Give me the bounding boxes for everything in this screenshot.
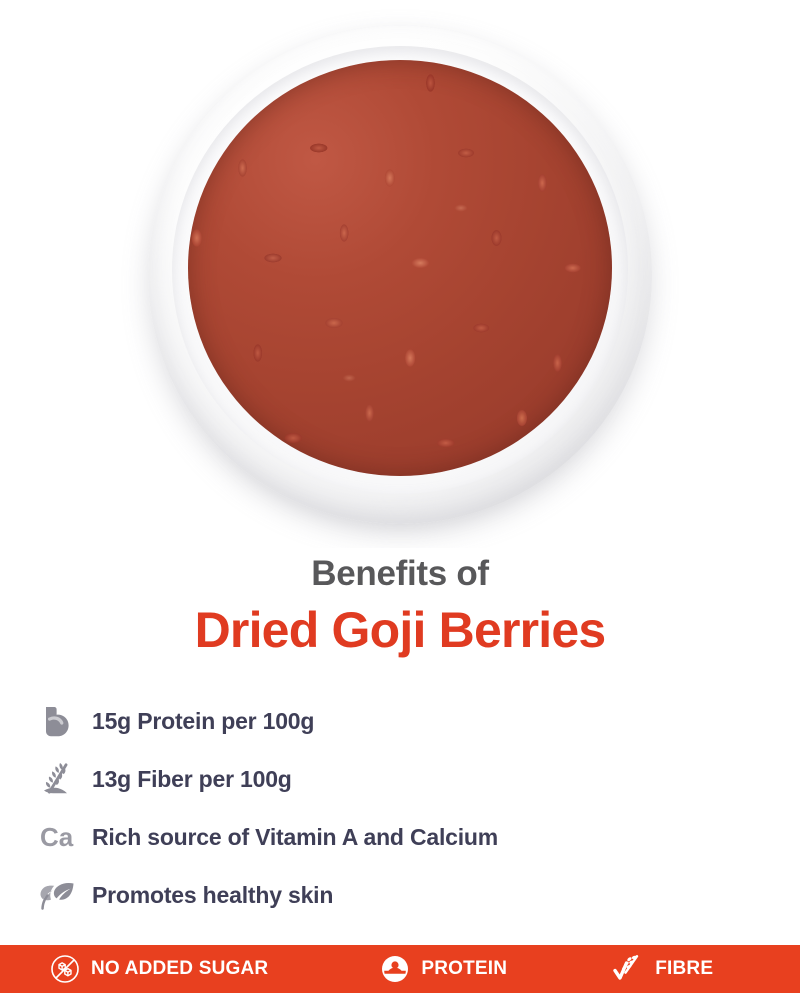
- white-bowl: [148, 26, 652, 524]
- banner-label: NO ADDED SUGAR: [91, 958, 268, 980]
- footer-strip: [0, 993, 800, 1007]
- banner-item-protein: PROTEIN: [378, 945, 507, 993]
- benefit-item-fiber: 13g Fiber per 100g: [0, 750, 800, 808]
- wheat-icon: [40, 757, 92, 801]
- benefit-label: Rich source of Vitamin A and Calcium: [92, 823, 498, 851]
- banner-label: PROTEIN: [421, 958, 507, 980]
- benefit-label: 13g Fiber per 100g: [92, 765, 292, 793]
- product-photo: [0, 0, 800, 548]
- feature-banner: NO ADDED SUGAR PROTEIN: [0, 945, 800, 993]
- benefit-label: 15g Protein per 100g: [92, 707, 314, 735]
- kicker-text: Benefits of: [0, 552, 800, 596]
- no-sugar-icon: [48, 952, 82, 986]
- banner-label: FIBRE: [655, 958, 713, 980]
- protein-icon: [378, 952, 412, 986]
- heading-block: Benefits of Dried Goji Berries: [0, 552, 800, 660]
- flexed-biceps-icon: [40, 699, 92, 743]
- leaf-icon: [40, 873, 92, 917]
- benefit-label: Promotes healthy skin: [92, 881, 333, 909]
- banner-item-no-added-sugar: NO ADDED SUGAR: [48, 945, 268, 993]
- benefit-item-calcium: Ca Rich source of Vitamin A and Calcium: [0, 808, 800, 866]
- page-title: Dried Goji Berries: [0, 600, 800, 660]
- calcium-symbol-icon: Ca: [40, 815, 92, 859]
- benefit-item-protein: 15g Protein per 100g: [0, 692, 800, 750]
- banner-item-fibre: FIBRE: [612, 945, 713, 993]
- fibre-wheat-check-icon: [612, 952, 646, 986]
- dried-goji-berries: [188, 60, 612, 476]
- benefits-list: 15g Protein per 100g 13g Fiber per 100g …: [0, 692, 800, 924]
- benefit-item-skin: Promotes healthy skin: [0, 866, 800, 924]
